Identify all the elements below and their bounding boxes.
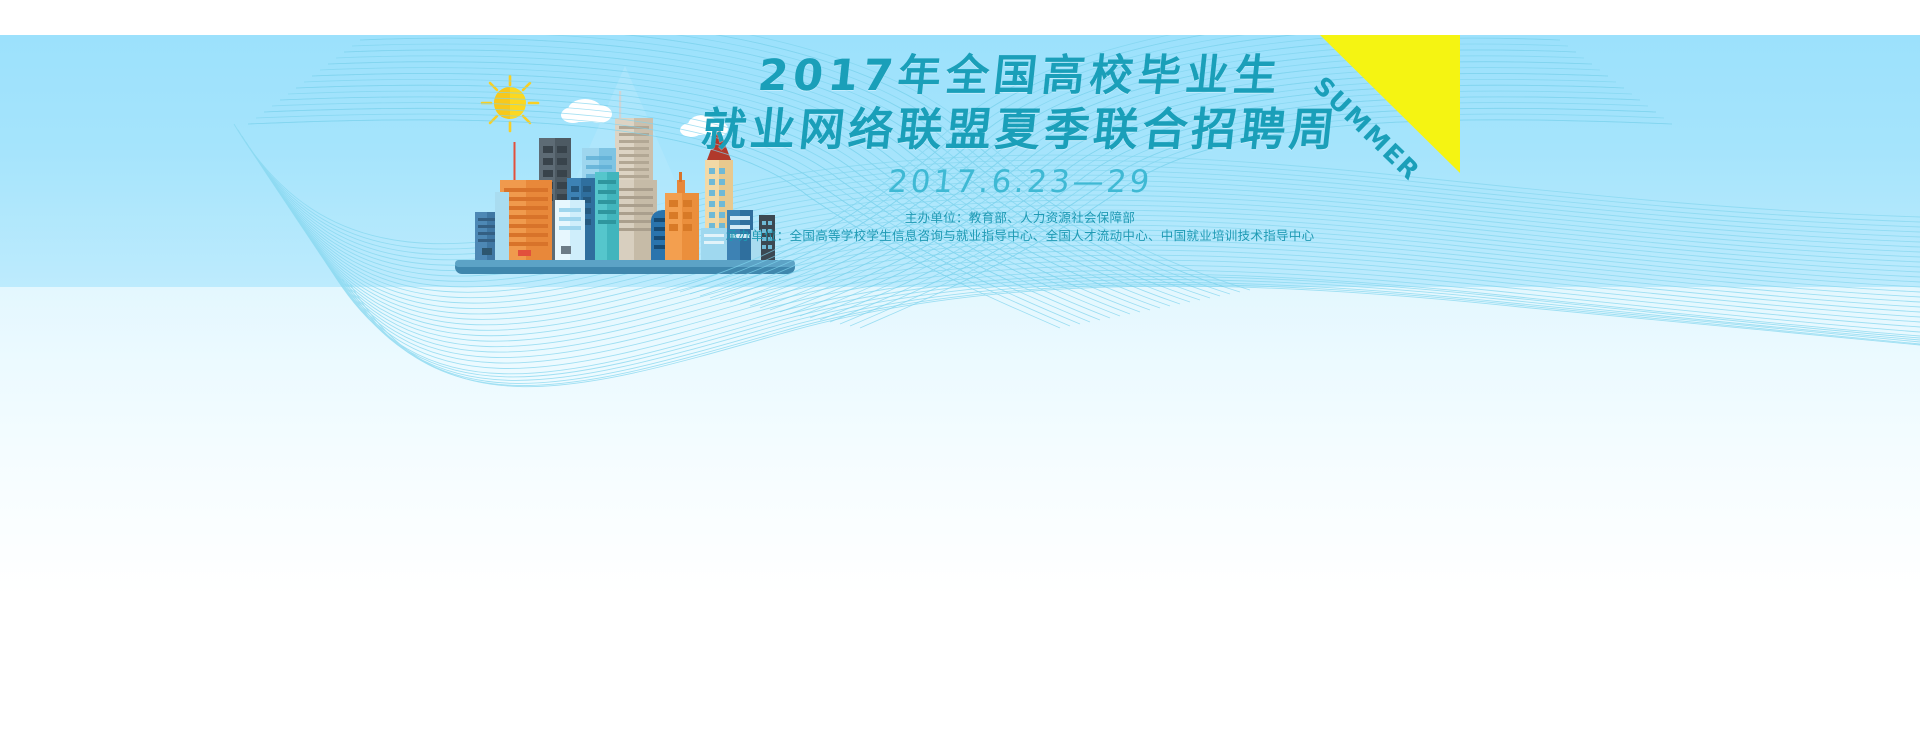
banner-headline-block: 2017年全国高校毕业生 就业网络联盟夏季联合招聘周 2017.6.23—29 …: [700, 50, 1340, 245]
building: [495, 192, 509, 263]
organizer-block: 主办单位：教育部、人力资源社会保障部 承办单位：全国高等学校学生信息咨询与就业指…: [700, 209, 1340, 245]
building: [555, 200, 585, 263]
ground-platform: [455, 260, 795, 274]
sun-icon: [482, 76, 538, 131]
antenna: [514, 142, 516, 180]
event-title-line-2: 就业网络联盟夏季联合招聘周: [697, 103, 1343, 156]
event-date: 2017.6.23—29: [698, 164, 1342, 200]
organizer-host: 主办单位：教育部、人力资源社会保障部: [700, 209, 1340, 227]
organizer-coorganizer: 承办单位：全国高等学校学生信息咨询与就业指导中心、全国人才流动中心、中国就业培训…: [700, 227, 1340, 245]
summer-corner-badge: SUMMER: [1320, 35, 1460, 173]
page-root: 2017年全国高校毕业生 就业网络联盟夏季联合招聘周 2017.6.23—29 …: [0, 0, 1920, 731]
top-white-strip: [0, 0, 1920, 35]
event-title-line-1: 2017年全国高校毕业生: [697, 50, 1343, 103]
building: [595, 172, 619, 263]
